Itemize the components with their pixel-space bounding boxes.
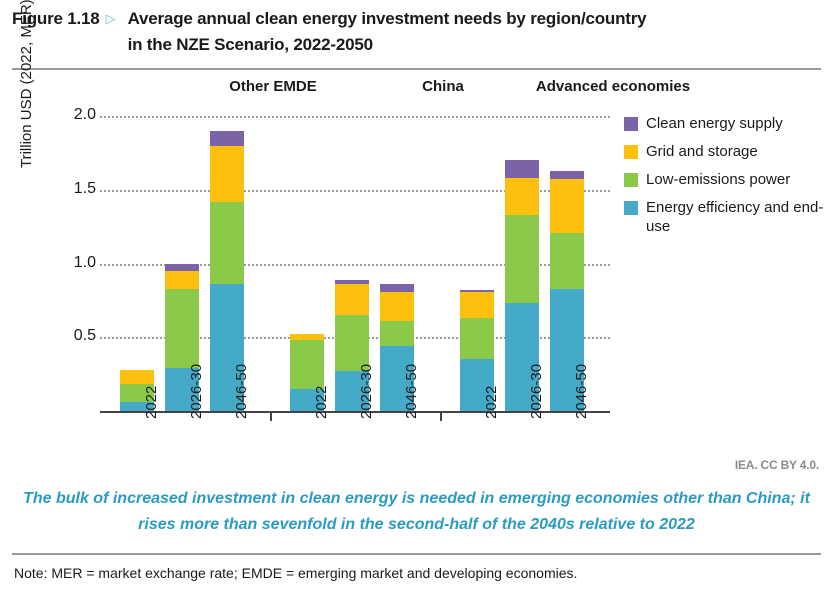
bar-segment-grid-and-storage [120, 370, 154, 385]
legend-label: Energy efficiency and end-use [646, 198, 824, 236]
figure-note: Note: MER = market exchange rate; EMDE =… [14, 565, 577, 581]
bar-segment-clean-energy-supply [380, 284, 414, 291]
y-axis-tick-label: 1.0 [36, 254, 96, 272]
credit-text: IEA. CC BY 4.0. [735, 458, 819, 472]
x-axis-tick-label: 2026-30 [188, 364, 205, 419]
legend-swatch-icon [624, 145, 638, 159]
x-axis-tick-label: 2046-50 [233, 364, 250, 419]
x-axis-tick-label: 2046-50 [573, 364, 590, 419]
legend-label: Clean energy supply [646, 114, 783, 133]
divider-bottom [12, 553, 821, 555]
group-separator-tick [440, 411, 442, 421]
bar-segment-low-emissions-power [290, 340, 324, 389]
bar-segment-low-emissions-power [165, 289, 199, 369]
legend-label: Grid and storage [646, 142, 758, 161]
bar-segment-grid-and-storage [165, 271, 199, 289]
group-header-other-emde: Other EMDE [188, 78, 358, 95]
legend-swatch-icon [624, 117, 638, 131]
y-axis-tick-label: 2.0 [36, 106, 96, 124]
bar-segment-grid-and-storage [380, 292, 414, 322]
y-axis-tick-label: 0.5 [36, 327, 96, 345]
gridline [100, 116, 610, 118]
chart-container: Trillion USD (2022, MER) 0.51.01.52.0Oth… [12, 70, 821, 460]
bar-segment-low-emissions-power [210, 202, 244, 285]
bar-segment-grid-and-storage [505, 178, 539, 215]
bar-segment-low-emissions-power [550, 233, 584, 289]
group-separator-tick [270, 411, 272, 421]
legend-item[interactable]: Grid and storage [624, 142, 824, 161]
group-header-china: China [358, 78, 528, 95]
bar-segment-low-emissions-power [380, 321, 414, 346]
legend-item[interactable]: Energy efficiency and end-use [624, 198, 824, 236]
figure-header: Figure 1.18 ▷ Average annual clean energ… [12, 6, 821, 58]
bar-segment-clean-energy-supply [210, 131, 244, 146]
legend-item[interactable]: Low-emissions power [624, 170, 824, 189]
legend-swatch-icon [624, 173, 638, 187]
bar-segment-grid-and-storage [335, 284, 369, 315]
bar-segment-clean-energy-supply [550, 171, 584, 180]
legend-item[interactable]: Clean energy supply [624, 114, 824, 133]
x-axis-tick-label: 2026-30 [528, 364, 545, 419]
bar-segment-grid-and-storage [550, 179, 584, 232]
bar-segment-grid-and-storage [460, 292, 494, 319]
figure-page: Figure 1.18 ▷ Average annual clean energ… [0, 0, 833, 596]
bar-segment-low-emissions-power [505, 215, 539, 304]
bar-segment-grid-and-storage [210, 146, 244, 202]
x-axis-tick-label: 2022 [143, 386, 160, 419]
x-axis-tick-label: 2022 [313, 386, 330, 419]
y-axis-tick-label: 1.5 [36, 180, 96, 198]
bar-segment-low-emissions-power [460, 318, 494, 359]
legend-label: Low-emissions power [646, 170, 790, 189]
plot-area: 0.51.01.52.0Other EMDE20222026-302046-50… [100, 116, 610, 411]
y-axis-label: Trillion USD (2022, MER) [18, 0, 35, 168]
x-axis-tick-label: 2026-30 [358, 364, 375, 419]
x-axis-tick-label: 2046-50 [403, 364, 420, 419]
figure-title: Average annual clean energy investment n… [128, 6, 648, 58]
triangle-marker-icon: ▷ [106, 6, 116, 32]
figure-caption: The bulk of increased investment in clea… [22, 486, 811, 538]
bar-segment-clean-energy-supply [505, 160, 539, 178]
legend-swatch-icon [624, 201, 638, 215]
chart-legend: Clean energy supplyGrid and storageLow-e… [624, 114, 824, 245]
x-axis-tick-label: 2022 [483, 386, 500, 419]
group-header-advanced-economies: Advanced economies [528, 78, 698, 95]
bar-segment-low-emissions-power [335, 315, 369, 371]
bar-segment-clean-energy-supply [165, 264, 199, 271]
